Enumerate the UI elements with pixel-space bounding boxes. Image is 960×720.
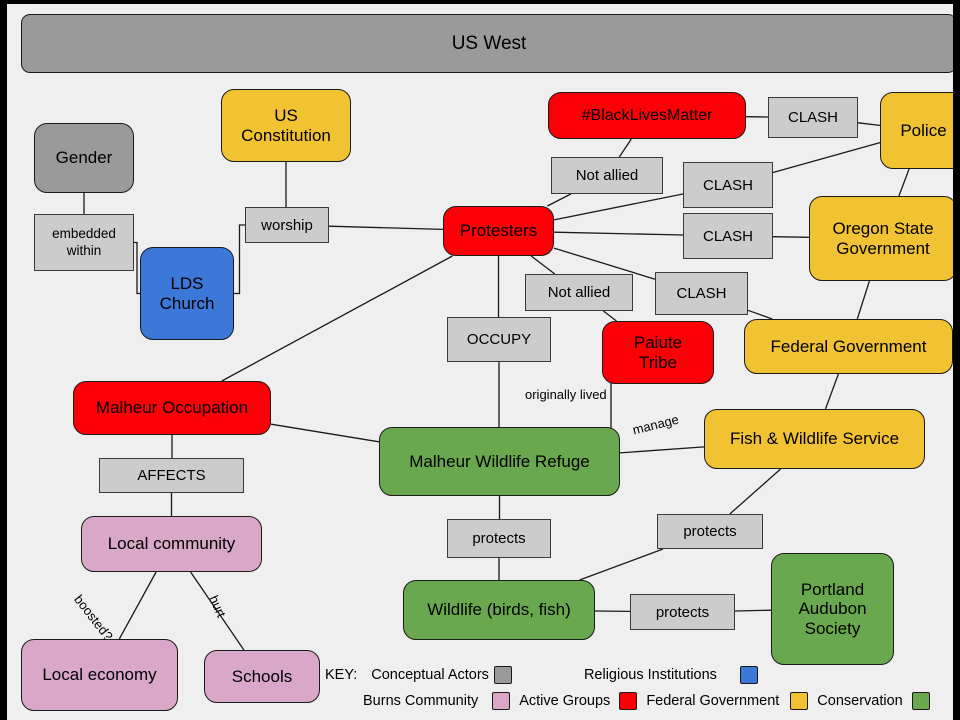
legend-label-active-groups: Active Groups [519,693,610,709]
legend-swatch-federal-government [790,692,808,710]
node-schools[interactable]: Schools [204,650,320,703]
header-title: US West [452,33,527,55]
legend-item-active-groups: Active Groups [519,692,637,710]
edge-not_allied_pai-to-paiute [603,311,616,321]
edge-blm-to-not_allied_blm [619,139,631,157]
legend-swatch-conservation [912,692,930,710]
edge-label-text-protects_refuge: protects [472,530,525,547]
node-label-refuge: Malheur Wildlife Refuge [409,452,589,471]
node-audubon[interactable]: Portland Audubon Society [771,553,894,665]
edge-not_allied_blm-to-protesters [547,194,570,206]
node-label-police: Police [900,121,946,140]
node-label-gender: Gender [56,148,113,167]
edge-protesters-to-clash_oregon [554,232,683,235]
edge-label-occupy: OCCUPY [447,317,551,362]
edge-label-protects_refuge: protects [447,519,551,558]
edge-label-text-not_allied_pai: Not allied [548,284,611,301]
node-paiute[interactable]: Paiute Tribe [602,321,714,384]
edge-label-not_allied_blm: Not allied [551,157,663,194]
node-local_econ[interactable]: Local economy [21,639,178,711]
legend-row-2: Burns Community Active Groups Federal Go… [363,692,930,710]
legend-item-religious-institutions: Religious Institutions [584,666,758,684]
node-label-protesters: Protesters [460,221,537,240]
edge-clash_police-to-police [773,143,880,173]
edge-malheur_occ-to-refuge [271,424,379,442]
edge-label-text-clash_fed: CLASH [676,285,726,302]
node-lds[interactable]: LDS Church [140,247,234,340]
node-label-paiute: Paiute Tribe [634,333,682,371]
node-label-fedgov: Federal Government [771,337,927,356]
edge-label-clash_blm: CLASH [768,97,858,138]
node-fedgov[interactable]: Federal Government [744,319,953,374]
edge-label-text-not_allied_blm: Not allied [576,167,639,184]
edge-protects_fws-to-wildlife [580,549,663,580]
legend-key-prefix: KEY: [325,667,357,683]
node-label-fws: Fish & Wildlife Service [730,429,899,448]
edge-worship-to-protesters [329,226,443,229]
node-protesters[interactable]: Protesters [443,206,554,256]
free-label-hurt: hurt [206,593,229,620]
legend: KEY: Conceptual Actors Religious Institu… [325,666,959,718]
node-label-schools: Schools [232,667,292,686]
diagram-canvas: US West GenderUS ConstitutionLDS Church#… [0,0,960,720]
edge-label-not_allied_pai: Not allied [525,274,633,311]
edge-label-worship: worship [245,207,329,243]
edge-protesters-to-not_allied_pai [531,256,555,274]
node-label-oregon: Oregon State Government [832,219,933,257]
edge-protects_aud-to-audubon [735,610,771,611]
legend-item-federal-government: Federal Government [646,692,808,710]
free-label-originally_lived: originally lived [525,387,607,402]
node-label-wildlife: Wildlife (birds, fish) [427,600,571,619]
node-wildlife[interactable]: Wildlife (birds, fish) [403,580,595,640]
region-header-us-west: US West [21,14,957,73]
edge-local_comm-to-local_econ [119,572,156,639]
edge-label-text-embedded_within: embedded within [52,226,116,258]
edge-clash_fed-to-fedgov [748,310,772,319]
edge-label-text-protects_fws: protects [683,523,736,540]
node-blm[interactable]: #BlackLivesMatter [548,92,746,139]
node-label-malheur_occ: Malheur Occupation [96,398,248,417]
edge-protesters-to-clash_police [554,194,683,220]
node-fws[interactable]: Fish & Wildlife Service [704,409,925,469]
node-us_const[interactable]: US Constitution [221,89,351,162]
legend-swatch-religious-institutions [740,666,758,684]
legend-label-conceptual-actors: Conceptual Actors [371,667,489,683]
legend-swatch-conceptual-actors [494,666,512,684]
edge-label-text-clash_police: CLASH [703,177,753,194]
edge-label-text-protects_aud: protects [656,604,709,621]
node-label-local_comm: Local community [108,534,236,553]
edge-label-affects: AFFECTS [99,458,244,493]
legend-label-burns-community: Burns Community [363,693,478,709]
edge-label-text-worship: worship [261,217,313,234]
legend-label-religious-institutions: Religious Institutions [584,667,717,683]
node-malheur_occ[interactable]: Malheur Occupation [73,381,271,435]
edge-label-clash_oregon: CLASH [683,213,773,259]
edge-protesters-to-malheur_occ [222,256,453,381]
edge-label-clash_fed: CLASH [655,272,748,315]
legend-label-federal-government: Federal Government [646,693,779,709]
edge-police-to-oregon [899,169,909,196]
legend-item-burns-community: Burns Community [363,692,510,710]
node-label-lds: LDS Church [160,274,215,312]
edge-fws-to-protects_fws [730,469,781,514]
node-label-us_const: US Constitution [241,106,331,144]
edge-label-text-clash_blm: CLASH [788,109,838,126]
edge-fedgov-to-fws [826,374,839,409]
free-label-boosted: boosted? [71,592,116,643]
edge-oregon-to-fedgov [857,281,869,319]
edge-worship-to-lds [234,225,245,294]
node-local_comm[interactable]: Local community [81,516,262,572]
legend-item-conceptual-actors: Conceptual Actors [371,666,512,684]
node-label-local_econ: Local economy [42,665,156,684]
node-label-audubon: Portland Audubon Society [798,580,866,637]
legend-swatch-burns-community [492,692,510,710]
edge-refuge-to-fws [620,447,704,453]
node-gender[interactable]: Gender [34,123,134,193]
legend-label-conservation: Conservation [817,693,902,709]
legend-item-conservation: Conservation [817,692,929,710]
edge-clash_oregon-to-oregon [773,237,809,238]
node-label-blm: #BlackLivesMatter [582,107,713,125]
node-police[interactable]: Police [880,92,960,169]
edge-label-protects_aud: protects [630,594,735,630]
edge-label-embedded_within: embedded within [34,214,134,271]
edge-label-text-affects: AFFECTS [137,467,205,484]
legend-swatch-active-groups [619,692,637,710]
edge-clash_blm-to-police [858,123,880,126]
legend-row-1: KEY: Conceptual Actors Religious Institu… [325,666,758,684]
node-refuge[interactable]: Malheur Wildlife Refuge [379,427,620,496]
node-oregon[interactable]: Oregon State Government [809,196,957,281]
edge-label-text-clash_oregon: CLASH [703,228,753,245]
free-label-manage: manage [631,412,680,438]
edge-label-clash_police: CLASH [683,162,773,208]
edge-label-text-occupy: OCCUPY [467,331,531,348]
edge-label-protects_fws: protects [657,514,763,549]
